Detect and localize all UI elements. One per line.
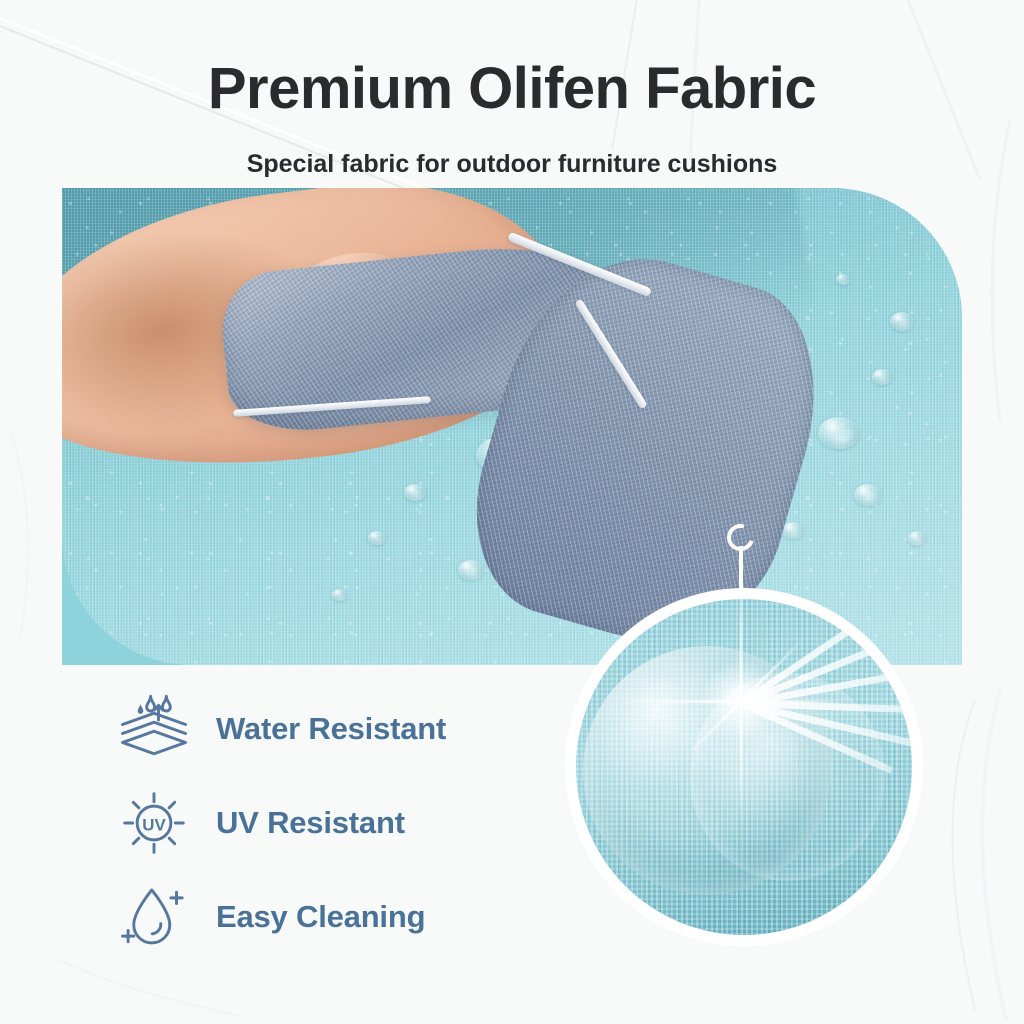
- feature-label: Water Resistant: [216, 711, 446, 747]
- page-title: Premium Olifen Fabric: [0, 55, 1024, 122]
- feature-label: Easy Cleaning: [216, 899, 425, 935]
- svg-text:UV: UV: [142, 815, 166, 834]
- sun-sparkle: [698, 657, 784, 743]
- infographic-page: Premium Olifen Fabric Special fabric for…: [0, 0, 1024, 1024]
- uv-sun-icon: UV: [118, 787, 190, 859]
- water-resistant-layers-icon: [118, 693, 190, 765]
- zoom-inset-circle: [565, 588, 923, 946]
- feature-item-water-resistant: Water Resistant: [118, 682, 538, 776]
- page-subtitle: Special fabric for outdoor furniture cus…: [0, 150, 1024, 179]
- product-photo: [62, 188, 962, 665]
- feature-item-easy-cleaning: Easy Cleaning: [118, 870, 538, 964]
- feature-list: Water Resistant UV UV Resistant: [118, 682, 538, 964]
- feature-item-uv-resistant: UV UV Resistant: [118, 776, 538, 870]
- water-droplet-sparkle-icon: [118, 881, 190, 953]
- feature-label: UV Resistant: [216, 805, 405, 841]
